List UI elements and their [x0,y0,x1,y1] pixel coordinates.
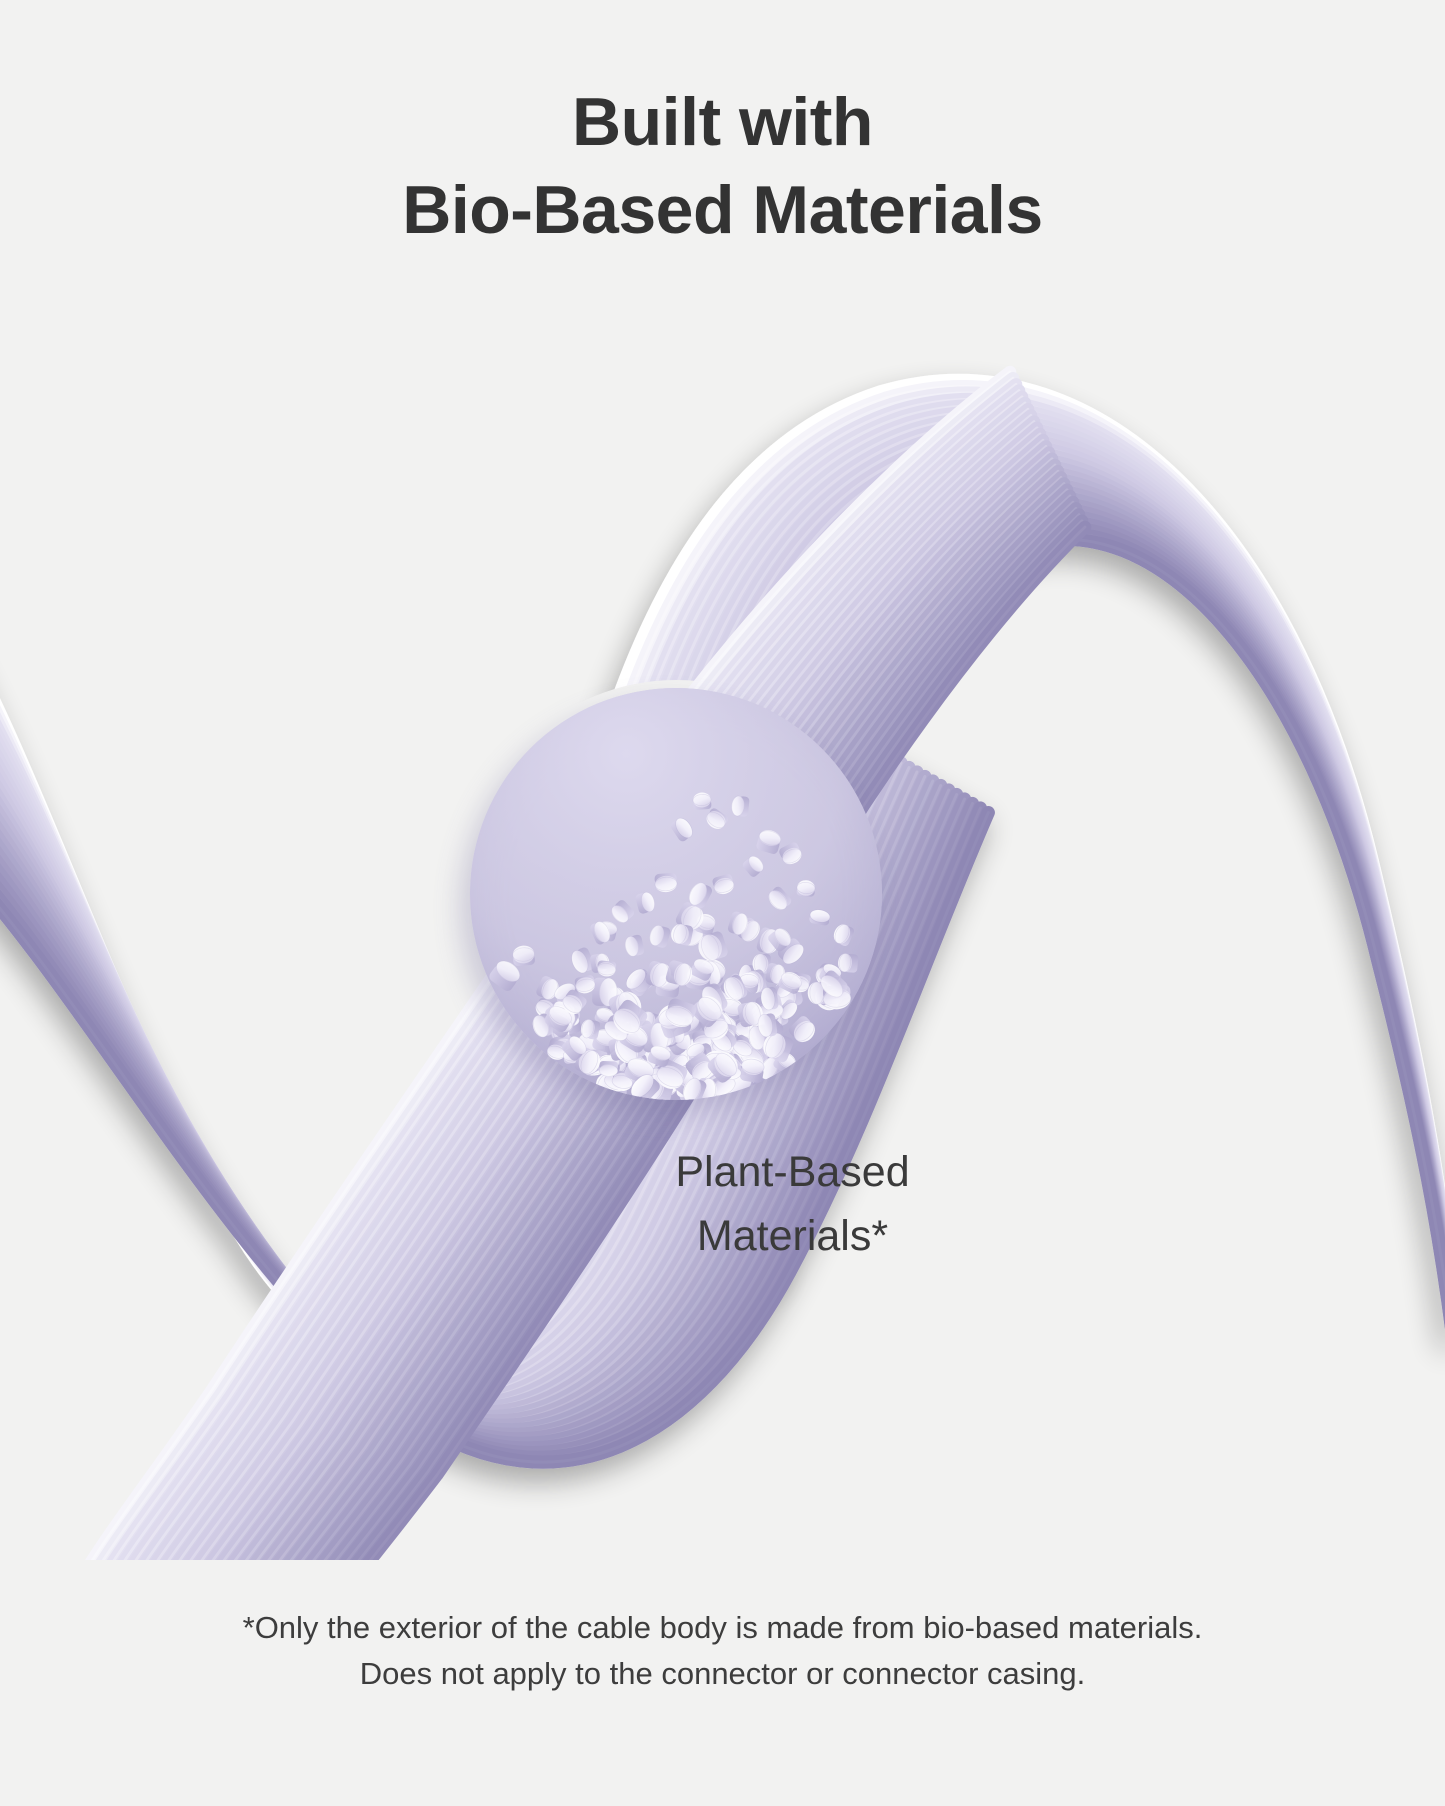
plant-based-materials-inset [470,688,882,1100]
pellet-pile [470,688,882,1100]
footnote-line-2: Does not apply to the connector or conne… [0,1651,1445,1697]
footnote-line-1: *Only the exterior of the cable body is … [0,1605,1445,1651]
footnote: *Only the exterior of the cable body is … [0,1605,1445,1697]
product-feature-page: Built with Bio-Based Materials Plant-Bas… [0,0,1445,1806]
page-title: Built with Bio-Based Materials [0,78,1445,254]
title-line-1: Built with [0,78,1445,166]
title-line-2: Bio-Based Materials [0,166,1445,254]
